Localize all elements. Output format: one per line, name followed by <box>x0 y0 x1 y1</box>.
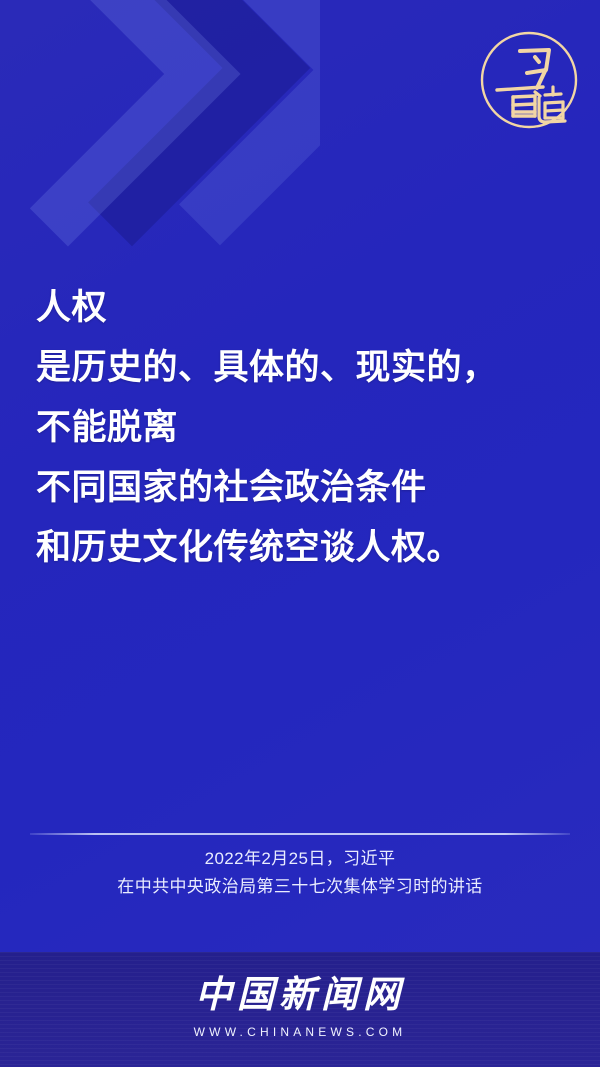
quote-line-4: 不同国家的社会政治条件 <box>36 458 566 518</box>
divider-line <box>30 833 570 835</box>
seal-badge <box>473 24 585 136</box>
quote-line-5: 和历史文化传统空谈人权。 <box>36 518 566 578</box>
quote-line-1: 人权 <box>36 278 566 338</box>
quote-line-3: 不能脱离 <box>36 398 566 458</box>
quote-block: 人权 是历史的、具体的、现实的， 不能脱离 不同国家的社会政治条件 和历史文化传… <box>36 278 566 578</box>
chevron-right-icon-front <box>0 0 241 247</box>
quote-line-2: 是历史的、具体的、现实的， <box>36 338 566 398</box>
attribution-occasion: 在中共中央政治局第三十七次集体学习时的讲话 <box>0 873 600 901</box>
footer-content: 中国新闻网 WWW.CHINANEWS.COM <box>0 952 600 1042</box>
poster-canvas: 人权 是历史的、具体的、现实的， 不能脱离 不同国家的社会政治条件 和历史文化传… <box>0 0 600 1067</box>
chevron-decoration <box>0 0 320 260</box>
attribution-date-speaker: 2022年2月25日，习近平 <box>0 845 600 873</box>
chevron-right-icon-back <box>45 0 320 245</box>
footer-band: 中国新闻网 WWW.CHINANEWS.COM <box>0 952 600 1067</box>
brand-name-cn: 中国新闻网 <box>0 974 600 1018</box>
chevron-right-icon-mid <box>0 0 310 246</box>
attribution-block: 2022年2月25日，习近平 在中共中央政治局第三十七次集体学习时的讲话 <box>0 845 600 901</box>
brand-url: WWW.CHINANEWS.COM <box>0 1022 600 1042</box>
